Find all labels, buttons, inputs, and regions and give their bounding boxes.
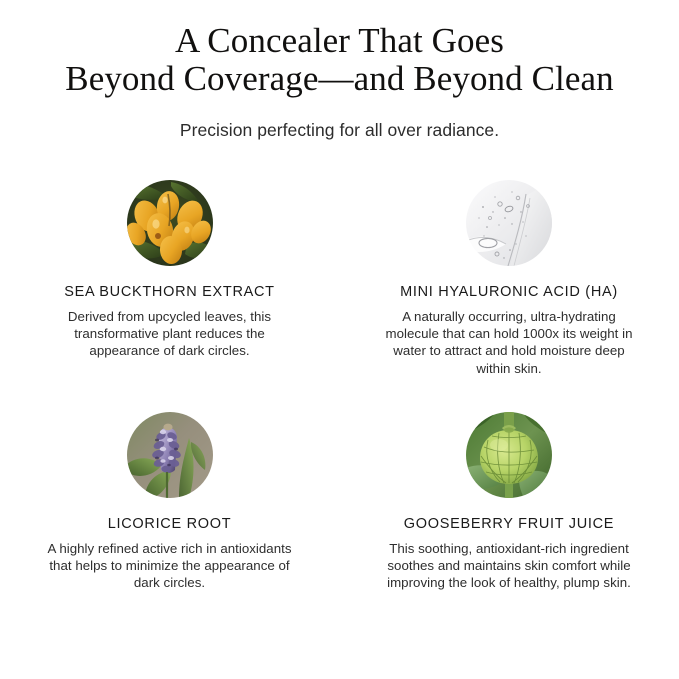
ingredient-thumbnail-wrap [22, 412, 317, 498]
page-header: A Concealer That Goes Beyond Coverage—an… [0, 0, 679, 141]
sea-buckthorn-berries-photo [127, 180, 213, 266]
page-title: A Concealer That Goes Beyond Coverage—an… [0, 22, 679, 98]
ingredient-description: Derived from upcycled leaves, this trans… [45, 301, 295, 360]
ingredient-card-licorice-root: LICORICE ROOT A highly refined active ri… [0, 412, 339, 592]
page-subtitle: Precision perfecting for all over radian… [0, 98, 679, 141]
ingredient-description: This soothing, antioxidant-rich ingredie… [383, 533, 635, 592]
ingredient-title: SEA BUCKTHORN EXTRACT [22, 266, 317, 301]
licorice-root-flower-photo [127, 412, 213, 498]
ingredient-card-mini-hyaluronic-acid: MINI HYALURONIC ACID (HA) A naturally oc… [339, 180, 679, 412]
ingredient-card-sea-buckthorn-extract: SEA BUCKTHORN EXTRACT Derived from upcyc… [0, 180, 339, 412]
ingredient-title: GOOSEBERRY FRUIT JUICE [361, 498, 657, 533]
ingredient-benefits-panel: A Concealer That Goes Beyond Coverage—an… [0, 0, 679, 679]
ingredient-description: A naturally occurring, ultra-hydrating m… [383, 301, 635, 377]
gooseberry-fruit-photo [466, 412, 552, 498]
ingredient-title: LICORICE ROOT [22, 498, 317, 533]
ingredient-thumbnail-wrap [22, 180, 317, 266]
hyaluronic-acid-serum-texture-photo [466, 180, 552, 266]
ingredient-thumbnail-wrap [361, 180, 657, 266]
ingredients-grid: SEA BUCKTHORN EXTRACT Derived from upcyc… [0, 180, 679, 592]
page-title-line-2: Beyond Coverage—and Beyond Clean [24, 60, 655, 98]
ingredient-description: A highly refined active rich in antioxid… [45, 533, 295, 592]
ingredient-title: MINI HYALURONIC ACID (HA) [361, 266, 657, 301]
page-title-line-1: A Concealer That Goes [24, 22, 655, 60]
ingredient-thumbnail-wrap [361, 412, 657, 498]
ingredient-card-gooseberry-fruit-juice: GOOSEBERRY FRUIT JUICE This soothing, an… [339, 412, 679, 592]
